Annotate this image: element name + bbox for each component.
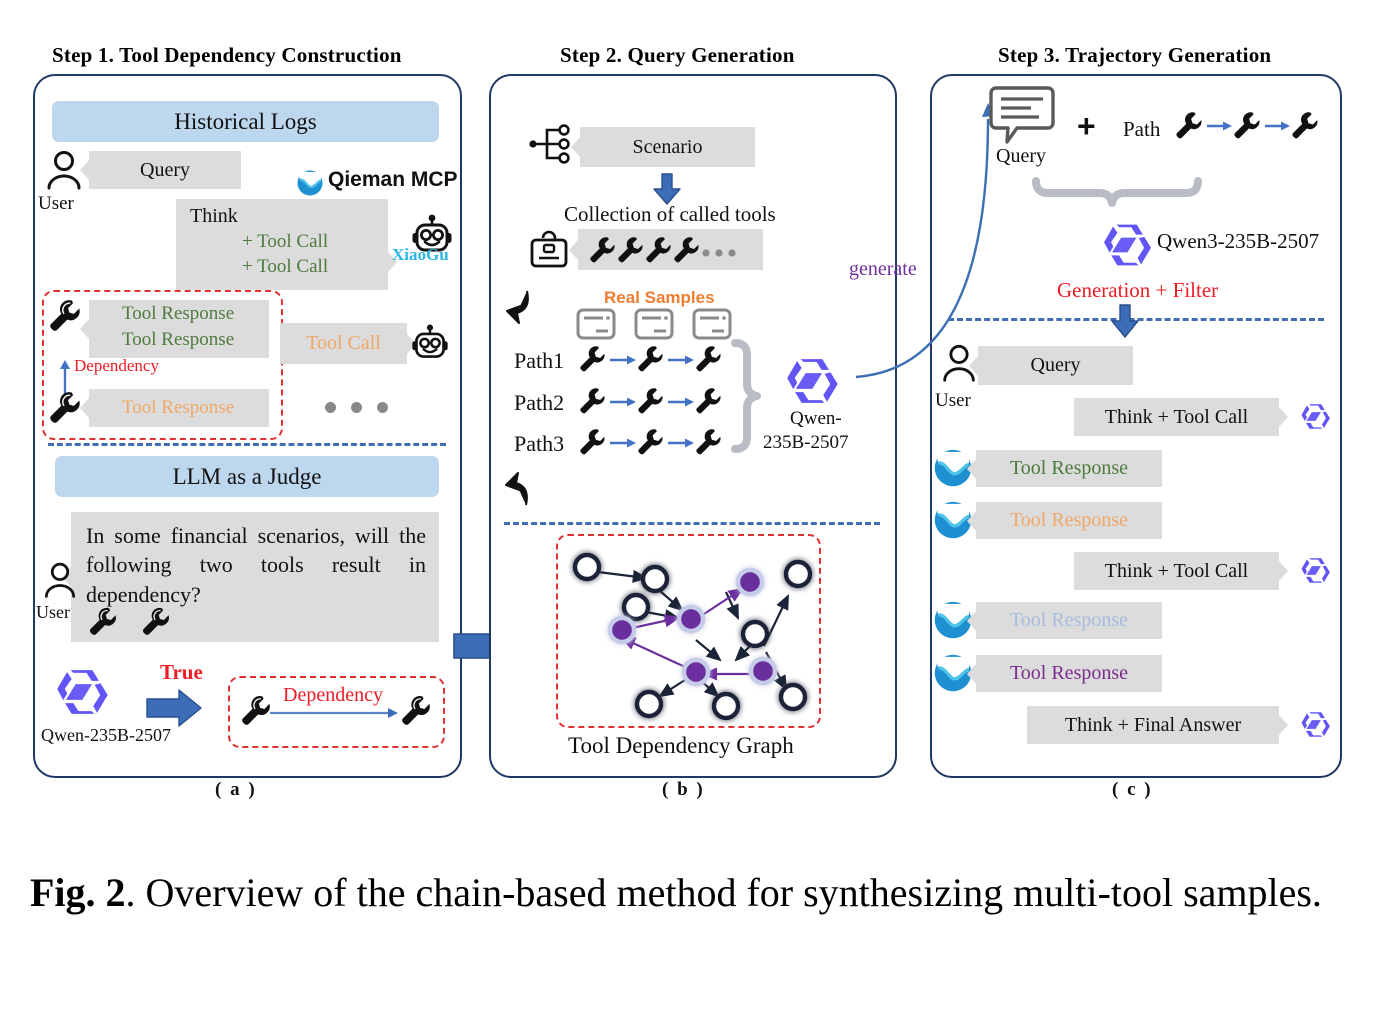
xiaogu-label: XiaoGu (392, 245, 449, 265)
tool-response-text-c2: Tool Response (1010, 509, 1128, 532)
step-2-title: Step 2. Query Generation (560, 43, 795, 68)
user-icon-judge (40, 560, 80, 600)
collection-of-called-tools-label: Collection of called tools (564, 202, 776, 227)
scenario-down-arrow (651, 172, 683, 206)
path-chain-c (1174, 108, 1326, 144)
wrench-icon-q1 (88, 606, 118, 636)
user-label-judge: User (36, 602, 70, 623)
message-bubble-tool-response-3: Tool Response (976, 602, 1162, 639)
tool-response-text-c3: Tool Response (1010, 609, 1128, 632)
sample-card-icon-2 (634, 308, 674, 340)
panel-c-letter: ( c ) (1112, 779, 1153, 801)
tool-response-text-c1: Tool Response (1010, 457, 1128, 480)
figure-root: Step 1. Tool Dependency Construction Ste… (0, 0, 1400, 1027)
wrench-icon-a1 (48, 298, 82, 332)
figure-caption-text: . Overview of the chain-based method for… (126, 870, 1322, 915)
tool-call-bubble-a: Tool Call (280, 323, 407, 364)
wrench-icon-dep-src (240, 694, 272, 726)
xiaogu-robot-icon-2 (411, 324, 449, 362)
generation-filter-label: Generation + Filter (1057, 278, 1218, 303)
query-bubble-a: Query (89, 151, 241, 189)
wrench-icon-q2 (141, 606, 171, 636)
sample-card-icon-1 (576, 308, 616, 340)
tool-response-text-2: Tool Response (122, 329, 234, 351)
sample-card-icon-3 (692, 308, 732, 340)
tool-dependency-graph (556, 534, 817, 724)
message-bubble-tool-response-4: Tool Response (976, 655, 1162, 692)
panel-b-divider (504, 522, 880, 525)
tool-response-text-1: Tool Response (122, 303, 234, 325)
historical-logs-bar: Historical Logs (52, 101, 439, 142)
tool-collection-bubble (578, 229, 763, 270)
wrench-icon-a2 (48, 390, 82, 424)
real-samples-label: Real Samples (604, 288, 715, 308)
graph-caption-label: Tool Dependency Graph (568, 733, 794, 759)
toolbox-icon (529, 231, 569, 269)
judge-question-text: In some financial scenarios, will the fo… (86, 521, 426, 609)
message-bubble-tool-response-2: Tool Response (976, 502, 1162, 539)
qwen-logo-icon-b (782, 352, 844, 410)
panel-a-divider (48, 443, 446, 446)
qieman-mcp-label: Qieman MCP (328, 168, 458, 192)
llm-judge-bar: LLM as a Judge (55, 456, 439, 497)
path-label-2: Path2 (514, 390, 564, 416)
tool-response-text-c4: Tool Response (1010, 662, 1128, 685)
wrench-icon-dep-dst (400, 694, 432, 726)
qwen-avatar-icon-2 (1299, 554, 1333, 587)
path-label-c: Path (1123, 117, 1160, 142)
verdict-arrow-icon (145, 687, 203, 729)
qwen-model-label-b-line2: 235B-2507 (763, 432, 849, 454)
think-bubble-a: Think + Tool Call + Tool Call (176, 199, 388, 290)
query-speech-bubble-icon (989, 85, 1055, 147)
think-tool-call-1: + Tool Call (242, 231, 328, 253)
tool-response-bubble-a2: Tool Response (89, 389, 269, 427)
dependency-label: Dependency (74, 356, 159, 376)
paths-brace-icon (731, 340, 761, 452)
dependency-edge-arrow (270, 704, 400, 722)
message-bubble-query: Query (978, 346, 1133, 385)
message-bubble-think-2: Think + Tool Call (1074, 552, 1279, 590)
step-1-title: Step 1. Tool Dependency Construction (52, 43, 402, 68)
wrench-group-icon (588, 233, 738, 267)
generate-label: generate (849, 258, 917, 281)
path-chain-2 (578, 385, 730, 419)
message-bubble-final-answer: Think + Final Answer (1027, 706, 1279, 744)
panel-b-letter: ( b ) (662, 779, 705, 801)
merge-brace-icon (1032, 178, 1202, 218)
qwen-logo-icon-a (53, 663, 113, 721)
qwen-avatar-icon-1 (1299, 400, 1333, 433)
plus-icon: + (1077, 108, 1096, 145)
filter-down-arrow (1110, 303, 1140, 339)
tool-response-text-3: Tool Response (122, 397, 234, 419)
qwen-model-label-b-line1: Qwen- (790, 408, 842, 430)
verdict-true-label: True (160, 660, 203, 685)
tool-call-text: Tool Call (306, 332, 381, 355)
message-bubble-think-1: Think + Tool Call (1074, 398, 1279, 436)
path-label-3: Path3 (514, 431, 564, 457)
path-chain-3 (578, 426, 730, 460)
judge-question-bubble: In some financial scenarios, will the fo… (71, 512, 439, 642)
qwen3-model-label-c: Qwen3-235B-2507 (1157, 229, 1319, 254)
qieman-logo-icon (297, 170, 323, 196)
panel-a-letter: ( a ) (215, 779, 257, 801)
path-chain-1 (578, 343, 730, 377)
query-label-c: Query (996, 145, 1046, 168)
user-label-a: User (38, 193, 74, 215)
curved-arrow-down-icon (501, 288, 535, 328)
think-tool-call-2: + Tool Call (242, 256, 328, 278)
curved-arrow-up-icon (500, 468, 534, 508)
figure-caption: Fig. 2. Overview of the chain-based meth… (30, 865, 1370, 922)
message-bubble-tool-response-1: Tool Response (976, 450, 1162, 487)
step-3-title: Step 3. Trajectory Generation (998, 43, 1271, 68)
figure-caption-label: Fig. 2 (30, 870, 126, 915)
qwen-avatar-icon-3 (1299, 708, 1333, 741)
ellipsis-dots-a (325, 402, 388, 413)
scenario-bubble: Scenario (580, 127, 755, 167)
scenario-tree-icon (527, 122, 571, 166)
user-label-c: User (935, 390, 971, 412)
think-label: Think (190, 205, 238, 228)
qwen-logo-icon-c (1100, 218, 1156, 272)
tool-response-bubble-a1: Tool Response Tool Response (89, 300, 269, 358)
path-label-1: Path1 (514, 348, 564, 374)
